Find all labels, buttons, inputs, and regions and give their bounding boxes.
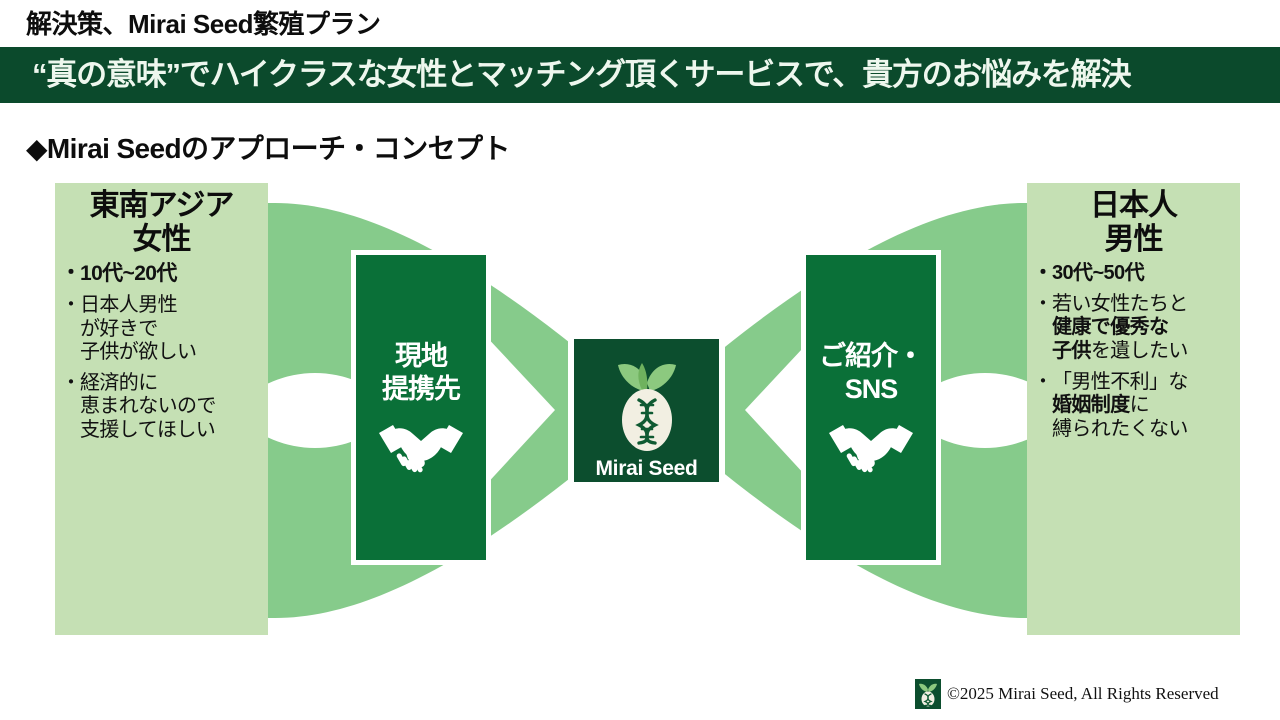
mirai-seed-mark-icon [915,679,941,709]
persona-title-left-line1: 東南アジア [63,189,260,223]
pillar-local-partner-line1: 現地 [382,340,460,373]
bullet-text: 30代~50代 [1052,262,1144,284]
persona-panel-southeast-asian-women: 東南アジア 女性 10代~20代 日本人男性が好きで子供が欲しい 経済的に恵まれ… [55,183,268,635]
footer: ©2025 Mirai Seed, All Rights Reserved [915,679,1219,709]
persona-title-right: 日本人 男性 [1035,189,1232,256]
list-item: 30代~50代 [1035,262,1232,286]
seed-dna-sprout-icon [597,347,697,455]
persona-bullets-left: 10代~20代 日本人男性が好きで子供が欲しい 経済的に恵まれないので支援してほ… [63,262,260,442]
page-title: 解決策、Mirai Seed繁殖プラン [26,4,381,41]
pillar-local-partner: 現地 提携先 [351,250,491,565]
handshake-icon [825,417,917,475]
persona-title-right-line1: 日本人 [1035,189,1232,223]
list-item: 経済的に恵まれないので支援してほしい [63,372,260,443]
persona-title-left-line2: 女性 [63,223,260,257]
pillar-local-partner-label: 現地 提携先 [382,340,460,406]
persona-bullets-right: 30代~50代 若い女性たちと健康で優秀な子供を遺したい 「男性不利」な婚姻制度… [1035,262,1232,441]
copyright-text: ©2025 Mirai Seed, All Rights Reserved [947,684,1219,704]
handshake-icon [375,417,467,475]
bullet-text: 10代~20代 [80,262,177,285]
pillar-referral-sns: ご紹介・ SNS [801,250,941,565]
headline-banner-text: “真の意味”でハイクラスな女性とマッチング頂くサービスで、貴方のお悩みを解決 [32,50,1130,100]
list-item: 若い女性たちと健康で優秀な子供を遺したい [1035,293,1232,364]
list-item: 日本人男性が好きで子供が欲しい [63,294,260,365]
pillar-referral-sns-label: ご紹介・ SNS [819,340,923,406]
pillar-referral-sns-line2: SNS [819,373,923,406]
persona-panel-japanese-men: 日本人 男性 30代~50代 若い女性たちと健康で優秀な子供を遺したい 「男性不… [1027,183,1240,635]
mirai-seed-wordmark: Mirai Seed [595,457,697,481]
section-heading: ◆Mirai Seedのアプローチ・コンセプト [26,127,510,167]
list-item: 「男性不利」な婚姻制度に縛られたくない [1035,371,1232,442]
mirai-seed-logo-card: Mirai Seed [568,333,725,488]
persona-title-right-line2: 男性 [1035,223,1232,257]
pillar-local-partner-line2: 提携先 [382,373,460,406]
leaf-right [647,364,676,391]
persona-title-left: 東南アジア 女性 [63,189,260,256]
slide-canvas: 解決策、Mirai Seed繁殖プラン “真の意味”でハイクラスな女性とマッチン… [0,0,1280,720]
pillar-referral-sns-line1: ご紹介・ [819,340,923,373]
list-item: 10代~20代 [63,262,260,287]
